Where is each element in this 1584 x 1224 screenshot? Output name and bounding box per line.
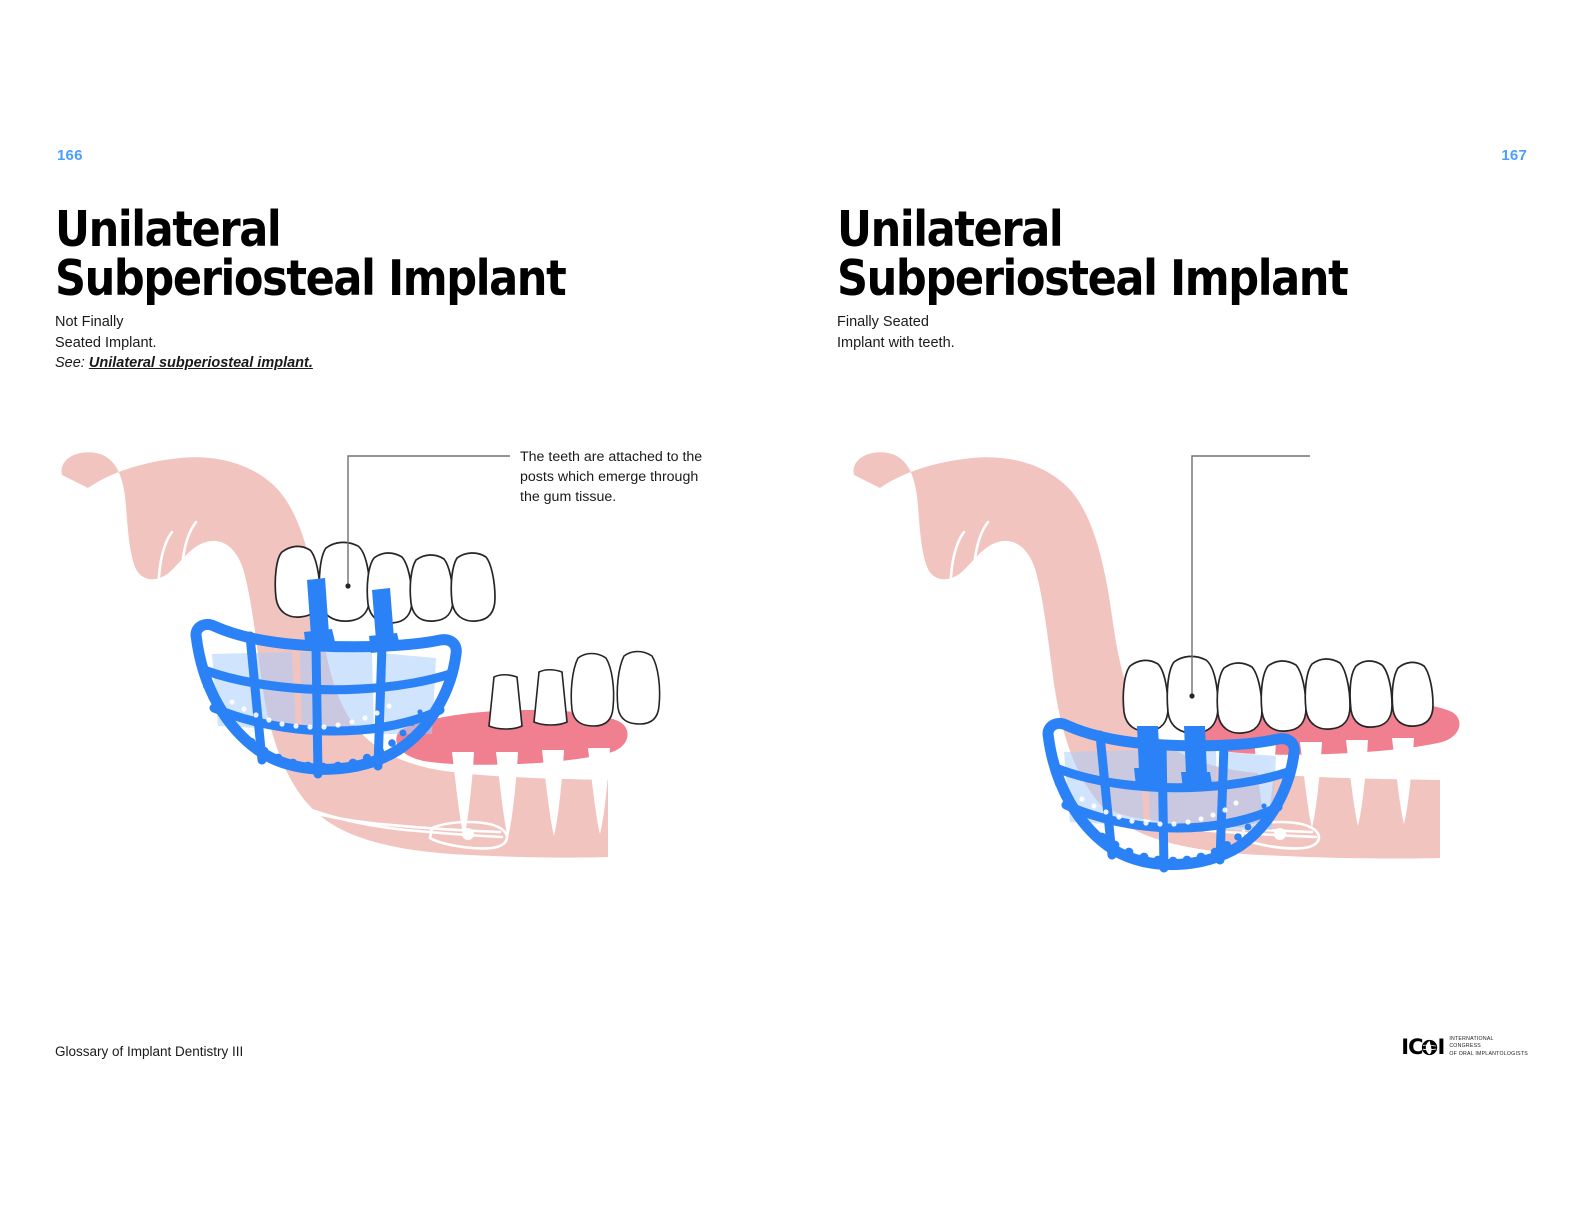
- page-right: 167 Unilateral Subperiosteal Implant Fin…: [792, 0, 1584, 1224]
- icoi-mark-left: IC: [1401, 1037, 1422, 1058]
- see-also-left: See: Unilateral subperiosteal implant.: [55, 355, 635, 371]
- page-left: 166 Unilateral Subperiosteal Implant Not…: [0, 0, 792, 1224]
- icoi-org-name: International Congress of Oral Implantol…: [1449, 1036, 1528, 1058]
- subtitle-left: Not Finally Seated Implant.: [55, 312, 635, 354]
- page-number-right: 167: [1501, 148, 1527, 163]
- natural-teeth-crowns: [489, 652, 660, 730]
- globe-icon: [1421, 1039, 1438, 1056]
- title-block-left: Unilateral Subperiosteal Implant Not Fin…: [55, 206, 635, 371]
- mandible-bone: [854, 452, 1440, 858]
- see-also-prefix-left: See:: [55, 355, 85, 371]
- icoi-mark-right: I: [1437, 1037, 1444, 1058]
- icoi-logo: IC I International Congress of Oral Impl…: [1401, 1036, 1528, 1058]
- page-number-left: 166: [57, 148, 83, 163]
- figure-right-finally-seated: [792, 430, 1584, 910]
- restored-teeth-row: [1123, 656, 1433, 733]
- subtitle-right: Finally Seated Implant with teeth.: [837, 312, 1417, 354]
- icoi-wordmark: IC I: [1401, 1037, 1444, 1058]
- title-block-right: Unilateral Subperiosteal Implant Finally…: [837, 206, 1417, 354]
- figure-left-not-seated: [0, 430, 792, 910]
- book-footer: Glossary of Implant Dentistry III: [55, 1044, 243, 1059]
- page-title-left: Unilateral Subperiosteal Implant: [55, 206, 565, 303]
- page-title-right: Unilateral Subperiosteal Implant: [837, 206, 1347, 303]
- see-also-link-left[interactable]: Unilateral subperiosteal implant.: [89, 355, 313, 371]
